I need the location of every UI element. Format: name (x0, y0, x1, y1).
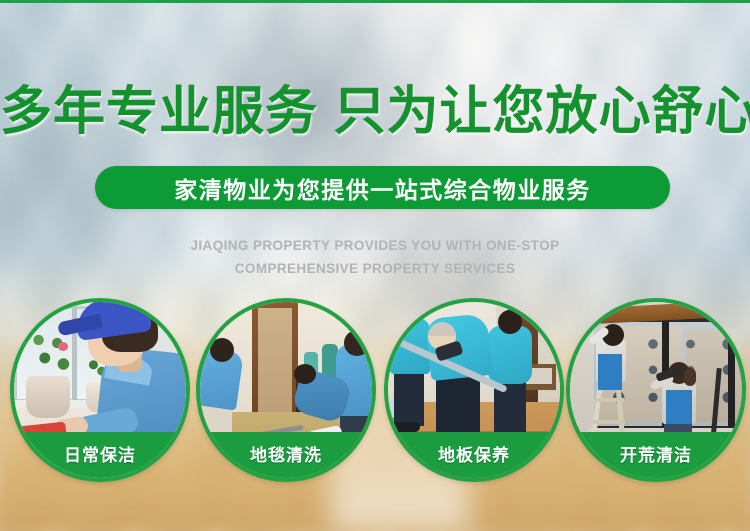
service-label-text: 日常保洁 (64, 441, 136, 470)
service-label-text: 开荒清洁 (620, 441, 692, 470)
promo-banner: 多年专业服务 只为让您放心舒心 家清物业为您提供一站式综合物业服务 JIAQIN… (0, 0, 750, 531)
service-circle-row: 日常保洁 地毯清洗 (0, 298, 750, 488)
subtitle-line-1: JIAQING PROPERTY PROVIDES YOU WITH ONE-S… (190, 238, 559, 253)
service-card-daily-cleaning[interactable]: 日常保洁 (10, 298, 190, 482)
service-card-floor-maintenance[interactable]: 地板保养 (384, 298, 564, 482)
service-label-text: 地毯清洗 (250, 441, 322, 470)
tagline-pill: 家清物业为您提供一站式综合物业服务 (95, 166, 670, 209)
service-card-post-construction-cleaning[interactable]: 开荒清洁 (566, 298, 746, 482)
service-card-carpet-cleaning[interactable]: 地毯清洗 (196, 298, 376, 482)
subtitle-english: JIAQING PROPERTY PROVIDES YOU WITH ONE-S… (0, 234, 750, 280)
top-green-rule (0, 0, 750, 3)
tagline-text: 家清物业为您提供一站式综合物业服务 (174, 171, 591, 205)
service-label-text: 地板保养 (438, 441, 510, 470)
subtitle-line-2: COMPREHENSIVE PROPERTY SERVICES (0, 257, 750, 280)
page-title: 多年专业服务 只为让您放心舒心 (0, 82, 750, 142)
